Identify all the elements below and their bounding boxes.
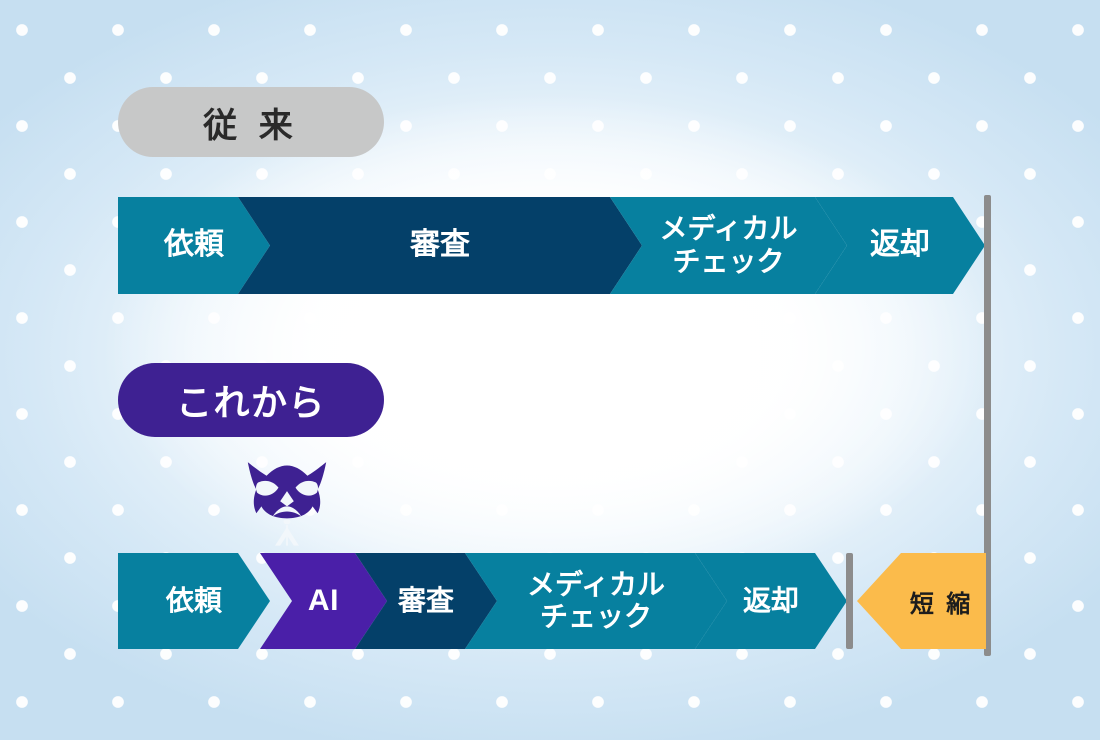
future-step-request-label: 依頼 <box>162 585 226 617</box>
future-step-medical-check-line2: チェック <box>523 601 669 633</box>
legacy-process-flow: 依頼 審査 メディカル チェック 返却 <box>0 197 1100 294</box>
infographic-canvas: 従 来 依頼 審査 メディカル チェック 返却 これから <box>0 0 1100 740</box>
future-step-return-label: 返却 <box>739 585 803 617</box>
future-step-review-label: 審査 <box>394 585 458 617</box>
future-step-medical-check-line1: メディカル <box>523 569 669 601</box>
owl-icon <box>244 457 330 549</box>
legacy-step-medical-check-line1: メディカル <box>655 213 801 245</box>
future-step-medical-check-label: メディカル チェック <box>519 569 673 634</box>
legacy-step-medical-check-label: メディカル チェック <box>651 213 805 278</box>
legacy-section-label: 従 来 <box>118 87 384 157</box>
future-step-ai-label: AI <box>304 584 343 619</box>
legacy-step-request-label: 依頼 <box>160 228 228 263</box>
legacy-step-medical-check[interactable]: メディカル チェック <box>610 197 847 294</box>
baseline-marker-future-end <box>846 553 853 649</box>
legacy-step-medical-check-line2: チェック <box>655 246 801 278</box>
future-step-medical-check[interactable]: メディカル チェック <box>465 553 727 649</box>
future-step-request[interactable]: 依頼 <box>118 553 270 649</box>
future-section-label: これから <box>118 363 384 437</box>
legacy-step-review[interactable]: 審査 <box>238 197 642 294</box>
legacy-step-request[interactable]: 依頼 <box>118 197 270 294</box>
legacy-step-review-label: 審査 <box>406 228 474 263</box>
legacy-step-return-label: 返却 <box>866 228 934 263</box>
time-saved-label: 短 縮 <box>870 584 973 619</box>
